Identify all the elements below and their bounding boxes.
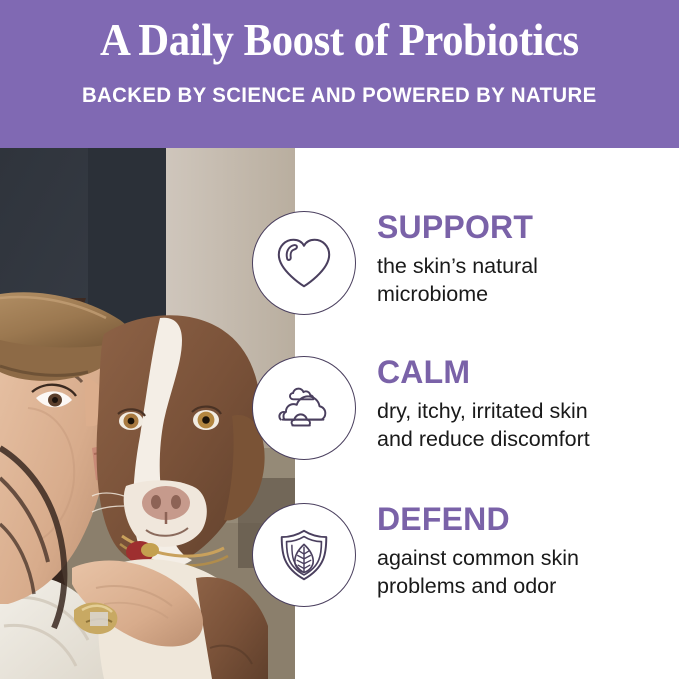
shield-leaf-icon <box>273 524 335 586</box>
page-subtitle: BACKED BY SCIENCE AND POWERED BY NATURE <box>82 84 597 108</box>
feature-body-defend: against common skin problems and odor <box>377 545 673 600</box>
feature-body-calm: dry, itchy, irritated skin and reduce di… <box>377 398 673 453</box>
feature-icon-badge-support <box>252 211 356 315</box>
feature-support: SUPPORT the skin’s natural microbiome <box>0 211 679 321</box>
feature-text-defend: DEFEND against common skin problems and … <box>377 503 673 600</box>
feature-title-defend: DEFEND <box>377 503 673 535</box>
feature-title-support: SUPPORT <box>377 211 673 243</box>
feature-calm: CALM dry, itchy, irritated skin and redu… <box>0 356 679 466</box>
feature-text-calm: CALM dry, itchy, irritated skin and redu… <box>377 356 673 453</box>
header-band: A Daily Boost of Probiotics BACKED BY SC… <box>0 0 679 148</box>
feature-title-calm: CALM <box>377 356 673 388</box>
page-title: A Daily Boost of Probiotics <box>100 14 579 66</box>
feature-icon-badge-calm <box>252 356 356 460</box>
promo-poster: A Daily Boost of Probiotics BACKED BY SC… <box>0 0 679 679</box>
feature-icon-badge-defend <box>252 503 356 607</box>
feature-text-support: SUPPORT the skin’s natural microbiome <box>377 211 673 308</box>
feature-body-support: the skin’s natural microbiome <box>377 253 673 308</box>
clouds-icon <box>273 377 335 439</box>
feature-defend: DEFEND against common skin problems and … <box>0 503 679 613</box>
heart-icon <box>273 232 335 294</box>
